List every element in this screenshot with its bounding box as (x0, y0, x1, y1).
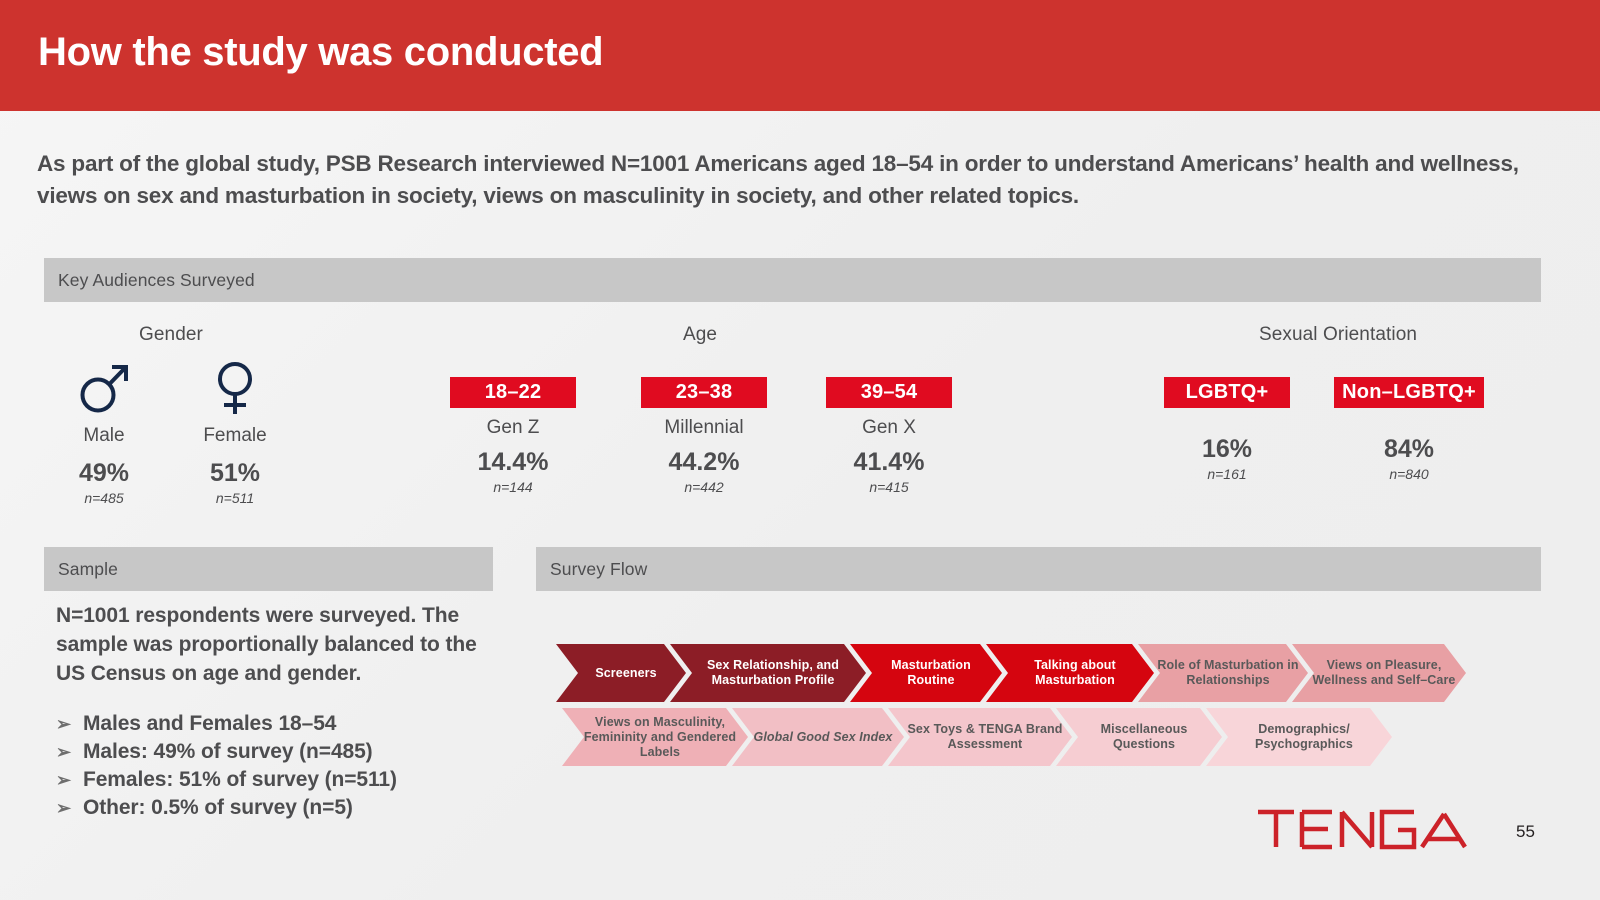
gender-pct-female: 51% (170, 459, 300, 488)
age-n: n=442 (641, 479, 767, 495)
survey-flow-step[interactable]: Role of Masturbation in Relationships (1138, 644, 1308, 702)
age-range-badge: 18–22 (450, 377, 576, 408)
sample-bullet-label: Males and Females 18–54 (83, 710, 336, 738)
survey-flow-row: Views on Masculinity, Femininity and Gen… (556, 708, 1516, 766)
survey-flow-step[interactable]: Demographics/ Psychographics (1206, 708, 1392, 766)
sample-bullet-item: ➢Males: 49% of survey (n=485) (56, 738, 496, 766)
survey-flow-step-label: Views on Masculinity, Femininity and Gen… (578, 715, 742, 760)
sample-bullet-label: Males: 49% of survey (n=485) (83, 738, 373, 766)
survey-flow-step[interactable]: Global Good Sex Index (732, 708, 904, 766)
survey-flow-step[interactable]: Sex Relationship, and Masturbation Profi… (670, 644, 866, 702)
gender-pct-male: 49% (39, 459, 169, 488)
orientation-n: n=840 (1334, 466, 1484, 482)
survey-flow-step[interactable]: Sex Toys & TENGA Brand Assessment (888, 708, 1072, 766)
survey-flow-step-label: Demographics/ Psychographics (1222, 722, 1386, 752)
survey-flow-step-label: Screeners (595, 666, 656, 681)
gender-stat-male: Male 49% n=485 (39, 357, 169, 506)
gender-label-male: Male (39, 425, 169, 447)
survey-flow-step[interactable]: Masturbation Routine (850, 644, 1002, 702)
age-pct: 44.2% (641, 448, 767, 477)
female-symbol-icon (170, 357, 300, 419)
column-title-age: Age (430, 324, 970, 346)
sample-description: N=1001 respondents were surveyed. The sa… (56, 601, 488, 688)
survey-flow-diagram: ScreenersSex Relationship, and Masturbat… (556, 644, 1516, 772)
gender-stat-female: Female 51% n=511 (170, 357, 300, 506)
bullet-arrow-icon: ➢ (56, 710, 83, 738)
section-band-sample: Sample (44, 547, 493, 591)
age-stat-gen-z: 18–22 Gen Z 14.4% n=144 (450, 377, 576, 495)
survey-flow-step[interactable]: Views on Pleasure, Wellness and Self–Car… (1292, 644, 1466, 702)
page-number: 55 (1516, 822, 1535, 842)
bullet-arrow-icon: ➢ (56, 766, 83, 794)
age-n: n=415 (826, 479, 952, 495)
column-title-gender: Gender (40, 324, 302, 346)
survey-flow-step[interactable]: Talking about Masturbation (986, 644, 1154, 702)
orientation-stat-non-lgbtq: Non–LGBTQ+ 84% n=840 (1334, 377, 1484, 482)
band-label-sample: Sample (44, 559, 118, 580)
age-cohort-label: Gen Z (450, 417, 576, 439)
orientation-n: n=161 (1164, 466, 1290, 482)
band-label-survey-flow: Survey Flow (536, 559, 647, 580)
gender-label-female: Female (170, 425, 300, 447)
page-title: How the study was conducted (38, 30, 603, 75)
age-pct: 41.4% (826, 448, 952, 477)
survey-flow-step[interactable]: Miscellaneous Questions (1056, 708, 1222, 766)
age-n: n=144 (450, 479, 576, 495)
survey-flow-step-label: Miscellaneous Questions (1072, 722, 1216, 752)
age-stat-gen-x: 39–54 Gen X 41.4% n=415 (826, 377, 952, 495)
sample-bullet-label: Females: 51% of survey (n=511) (83, 766, 397, 794)
orientation-pct: 16% (1164, 435, 1290, 464)
age-range-badge: 23–38 (641, 377, 767, 408)
male-symbol-icon (39, 357, 169, 419)
intro-paragraph: As part of the global study, PSB Researc… (37, 148, 1565, 212)
section-band-key-audiences: Key Audiences Surveyed (44, 258, 1541, 302)
column-title-sexual-orientation: Sexual Orientation (1150, 324, 1526, 346)
section-band-survey-flow: Survey Flow (536, 547, 1541, 591)
orientation-badge: Non–LGBTQ+ (1334, 377, 1484, 408)
survey-flow-step-label: Sex Toys & TENGA Brand Assessment (904, 722, 1066, 752)
survey-flow-step-label: Talking about Masturbation (1002, 658, 1148, 688)
sample-bullet-list: ➢Males and Females 18–54➢Males: 49% of s… (56, 710, 496, 822)
age-pct: 14.4% (450, 448, 576, 477)
sample-bullet-item: ➢Females: 51% of survey (n=511) (56, 766, 496, 794)
slide: How the study was conducted As part of t… (0, 0, 1600, 900)
age-range-badge: 39–54 (826, 377, 952, 408)
gender-n-female: n=511 (170, 490, 300, 506)
sample-bullet-item: ➢Other: 0.5% of survey (n=5) (56, 794, 496, 822)
bullet-arrow-icon: ➢ (56, 794, 83, 822)
age-cohort-label: Millennial (641, 417, 767, 439)
gender-n-male: n=485 (39, 490, 169, 506)
orientation-stat-lgbtq: LGBTQ+ 16% n=161 (1164, 377, 1290, 482)
survey-flow-step-label: Views on Pleasure, Wellness and Self–Car… (1308, 658, 1460, 688)
survey-flow-step[interactable]: Screeners (556, 644, 686, 702)
survey-flow-step-label: Global Good Sex Index (754, 730, 893, 745)
age-stat-millennial: 23–38 Millennial 44.2% n=442 (641, 377, 767, 495)
survey-flow-step-label: Role of Masturbation in Relationships (1154, 658, 1302, 688)
sample-bullet-label: Other: 0.5% of survey (n=5) (83, 794, 353, 822)
age-cohort-label: Gen X (826, 417, 952, 439)
bullet-arrow-icon: ➢ (56, 738, 83, 766)
sample-bullet-item: ➢Males and Females 18–54 (56, 710, 496, 738)
orientation-badge: LGBTQ+ (1164, 377, 1290, 408)
tenga-logo (1256, 806, 1468, 857)
survey-flow-step-label: Sex Relationship, and Masturbation Profi… (686, 658, 860, 688)
survey-flow-row: ScreenersSex Relationship, and Masturbat… (556, 644, 1516, 702)
orientation-pct: 84% (1334, 435, 1484, 464)
band-label-key-audiences: Key Audiences Surveyed (44, 270, 255, 291)
survey-flow-step[interactable]: Views on Masculinity, Femininity and Gen… (562, 708, 748, 766)
survey-flow-step-label: Masturbation Routine (866, 658, 996, 688)
